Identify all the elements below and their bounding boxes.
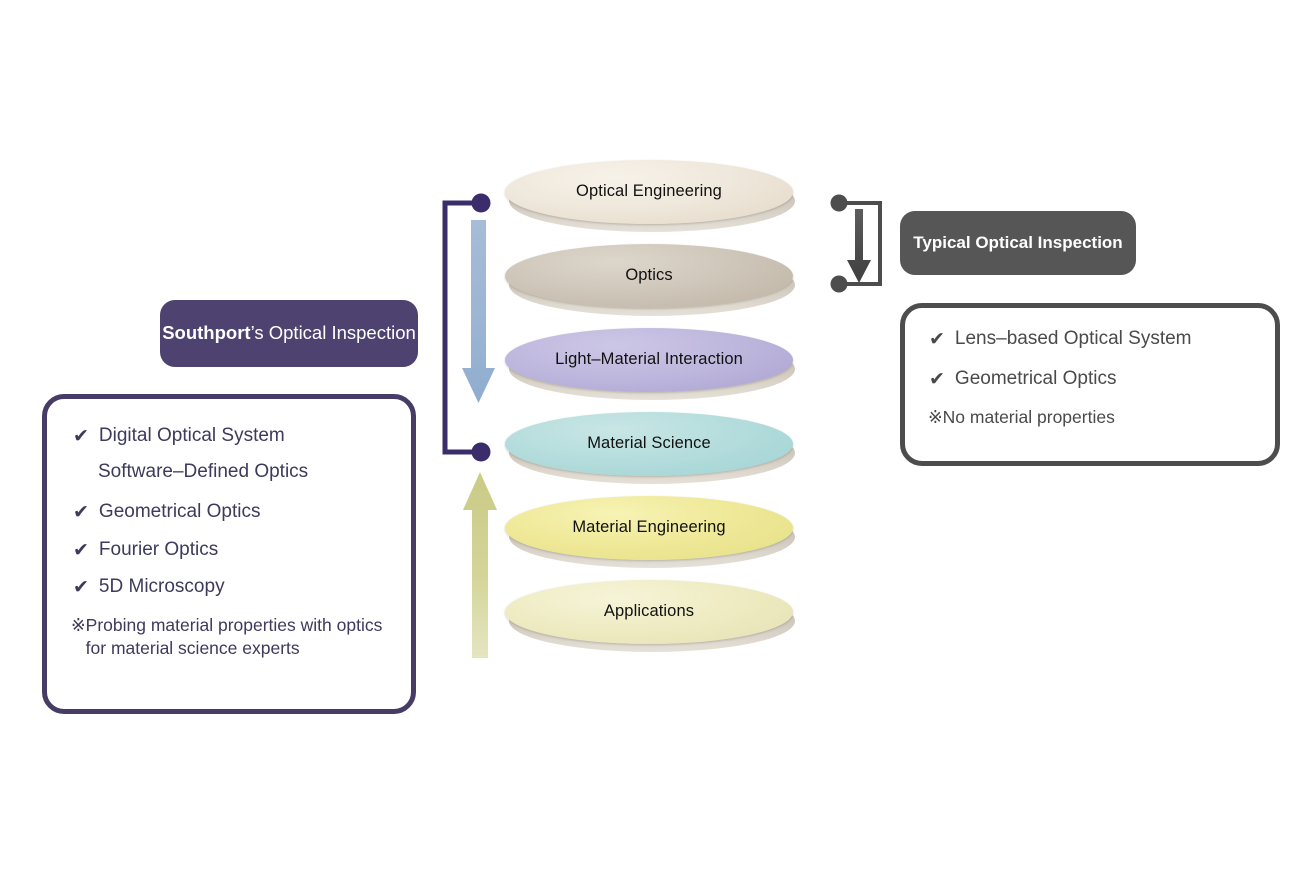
list-item: ✔ Digital Optical System — [73, 425, 411, 447]
disk-label: Light–Material Interaction — [555, 350, 743, 369]
list-item-label: 5D Microscopy — [99, 576, 225, 598]
disk-top: Material Science — [505, 412, 793, 476]
bracket-dot-bottom — [831, 276, 848, 293]
disk-layer: Material Engineering — [505, 496, 795, 570]
footnote-text: No material properties — [943, 406, 1115, 429]
disk-top: Light–Material Interaction — [505, 328, 793, 392]
check-icon: ✔ — [929, 370, 945, 389]
list-item: ✔ 5D Microscopy — [73, 576, 411, 598]
reference-mark-icon: ※ — [928, 406, 943, 429]
check-icon: ✔ — [73, 541, 89, 560]
check-icon: ✔ — [73, 503, 89, 522]
disk-label: Applications — [604, 602, 694, 621]
check-icon: ✔ — [929, 330, 945, 349]
disk-top: Applications — [505, 580, 793, 644]
southport-badge-rest: ’s Optical Inspection — [251, 322, 416, 343]
list-item-label: Digital Optical System — [99, 425, 285, 447]
typical-feature-panel: ✔ Lens–based Optical System ✔ Geometrica… — [900, 303, 1280, 466]
disk-label: Material Engineering — [572, 518, 725, 537]
typical-inspection-badge-label: Typical Optical Inspection — [913, 232, 1122, 254]
disk-label: Optical Engineering — [576, 182, 722, 201]
left-bracket-group — [440, 190, 500, 470]
check-icon: ✔ — [73, 427, 89, 446]
disk-layer: Light–Material Interaction — [505, 328, 795, 402]
list-item-label: Geometrical Optics — [955, 368, 1117, 390]
diagram-canvas: Optical Engineering Optics Light–Materia… — [0, 0, 1306, 870]
footnote: ※ Probing material properties with optic… — [71, 614, 401, 660]
reference-mark-icon: ※ — [71, 614, 86, 637]
list-item: ✔ Geometrical Optics — [929, 368, 1275, 390]
disk-top: Material Engineering — [505, 496, 793, 560]
list-item-label: Geometrical Optics — [99, 501, 261, 523]
typical-inspection-badge: Typical Optical Inspection — [900, 211, 1136, 275]
disk-layer: Applications — [505, 580, 795, 654]
list-item: Software–Defined Optics — [98, 461, 411, 483]
disk-layer: Material Science — [505, 412, 795, 486]
down-arrow-icon — [847, 209, 871, 283]
disk-layer: Optical Engineering — [505, 160, 795, 234]
disk-top: Optical Engineering — [505, 160, 793, 224]
list-item: ✔ Fourier Optics — [73, 539, 411, 561]
down-arrow-icon — [462, 220, 495, 403]
layer-stack: Optical Engineering Optics Light–Materia… — [505, 160, 815, 670]
southport-feature-panel: ✔ Digital Optical System Software–Define… — [42, 394, 416, 714]
check-icon: ✔ — [73, 578, 89, 597]
disk-layer: Optics — [505, 244, 795, 318]
list-item-label: Fourier Optics — [99, 539, 218, 561]
footnote-text: Probing material properties with optics … — [86, 614, 401, 660]
southport-badge: Southport’s Optical Inspection — [160, 300, 418, 367]
list-item: ✔ Lens–based Optical System — [929, 328, 1275, 350]
disk-label: Material Science — [587, 434, 711, 453]
southport-brand-name: Southport — [162, 322, 250, 343]
disk-top: Optics — [505, 244, 793, 308]
disk-label: Optics — [625, 266, 672, 285]
bracket-dot-bottom — [472, 443, 491, 462]
right-bracket-group — [828, 188, 888, 298]
bracket-dot-top — [472, 194, 491, 213]
up-arrow-icon — [455, 468, 505, 660]
list-item: ✔ Geometrical Optics — [73, 501, 411, 523]
footnote: ※ No material properties — [928, 406, 1275, 429]
list-item-label: Lens–based Optical System — [955, 328, 1192, 350]
bracket-dot-top — [831, 195, 848, 212]
list-item-label: Software–Defined Optics — [98, 461, 308, 483]
